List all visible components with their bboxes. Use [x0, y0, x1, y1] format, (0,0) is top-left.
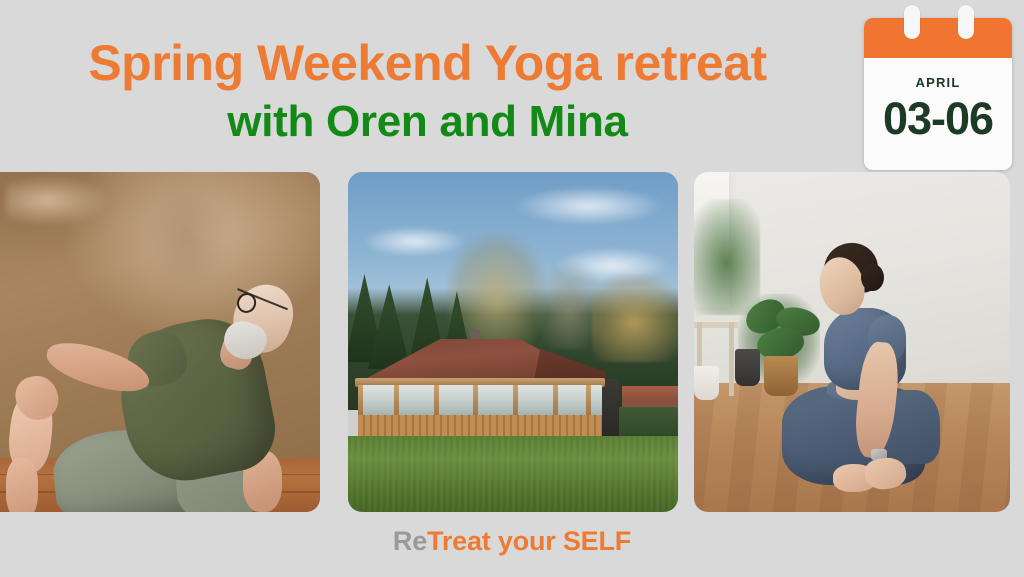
calendar-ring-left-icon [904, 5, 920, 39]
poster-canvas: Spring Weekend Yoga retreat with Oren an… [0, 0, 1024, 577]
photo-3-canvas [694, 172, 1010, 512]
pavilion-post [513, 385, 518, 418]
photo-yoga-pavilion [348, 172, 678, 512]
photo-1-canvas [0, 172, 320, 512]
pavilion-post [358, 385, 363, 418]
tagline-prefix: Re [393, 526, 427, 556]
pavilion-post [473, 385, 478, 418]
photo-strip [0, 172, 1024, 512]
headline-block: Spring Weekend Yoga retreat with Oren an… [0, 38, 855, 144]
wall-shadow-patch [147, 186, 230, 288]
pavilion-post [586, 385, 591, 418]
calendar-ring-right-icon [958, 5, 974, 39]
man-shin [6, 458, 38, 512]
wall-highlight-patch [6, 175, 108, 226]
calendar-date-range: 03-06 [883, 96, 993, 141]
lawn-foreground [348, 436, 678, 513]
photo-woman-seated-pose [694, 172, 1010, 512]
headline-title-primary: Spring Weekend Yoga retreat [0, 38, 855, 88]
autumn-foliage-tree [592, 274, 678, 362]
pavilion-post [553, 385, 558, 418]
calendar-date-badge: APRIL 03-06 [864, 18, 1012, 170]
woman-hair-bun [861, 264, 883, 291]
calendar-body: APRIL 03-06 [864, 58, 1012, 170]
plant-stand-leg [729, 322, 734, 397]
photo-2-canvas [348, 172, 678, 512]
dark-plant-pot [735, 349, 760, 386]
terracotta-plant-pot [764, 356, 799, 397]
calendar-month-label: APRIL [916, 75, 961, 90]
pavilion-post [434, 385, 439, 418]
calendar-header-bar [864, 18, 1012, 58]
headline-title-secondary: with Oren and Mina [0, 100, 855, 144]
photo-man-twist-pose [0, 172, 320, 512]
white-plant-pot [694, 366, 719, 400]
tagline-emphasis: Treat your SELF [427, 526, 631, 556]
pavilion-post [394, 385, 399, 418]
cloud [513, 186, 665, 227]
tagline: ReTreat your SELF [0, 526, 1024, 557]
